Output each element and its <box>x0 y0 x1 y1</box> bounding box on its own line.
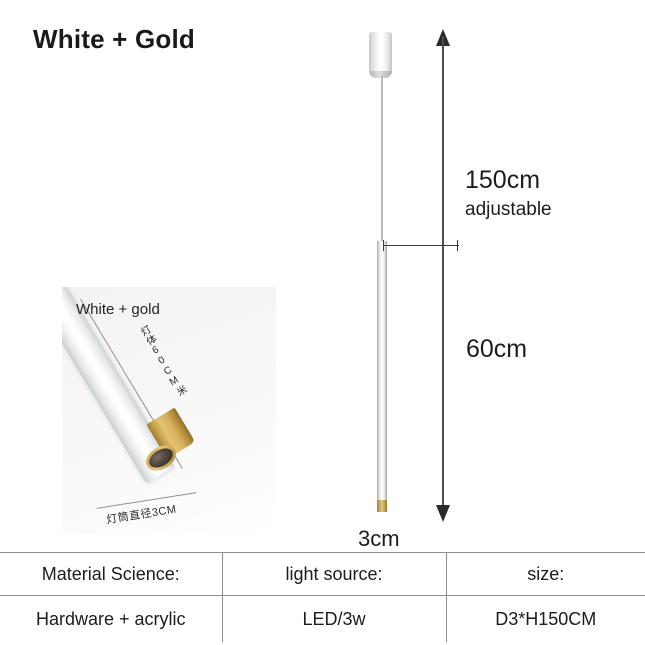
inset-variant-label: White + gold <box>76 301 160 318</box>
page-title: White + Gold <box>33 24 195 55</box>
lamp-rod <box>377 241 387 500</box>
dimension-tick-line <box>383 245 459 246</box>
dimension-tick-cap-left <box>383 240 384 251</box>
table-header-row: Material Science: light source: size: <box>0 553 645 596</box>
arrow-down-icon <box>436 505 450 522</box>
table-cell-material: Hardware + acrylic <box>0 596 222 643</box>
table-cell-size: D3*H150CM <box>446 596 645 643</box>
inset-length-annotation: 灯体60CM米 <box>137 324 188 399</box>
suspension-wire <box>381 76 383 241</box>
dimension-line <box>442 36 444 512</box>
specification-table: Material Science: light source: size: Ha… <box>0 553 645 642</box>
inset-lamp-illustration: 灯体60CM米 灯筒直径3CM <box>62 287 276 534</box>
dimension-tick-cap-right <box>457 240 458 251</box>
table-header-size: size: <box>446 553 645 596</box>
body-length-label: 60cm <box>466 335 527 364</box>
table-cell-light-source: LED/3w <box>222 596 446 643</box>
table-header-material: Material Science: <box>0 553 222 596</box>
total-length-label: 150cm <box>465 166 540 195</box>
table-row: Hardware + acrylic LED/3w D3*H150CM <box>0 596 645 643</box>
gold-lamp-tip-icon <box>377 500 387 512</box>
ceiling-canopy-icon <box>369 32 392 76</box>
table-header-light-source: light source: <box>222 553 446 596</box>
diameter-label: 3cm <box>358 526 400 552</box>
inset-product-photo: White + gold 灯体60CM米 灯筒直径3CM <box>62 287 276 534</box>
total-length-note: adjustable <box>465 199 552 221</box>
product-spec-page: White + Gold White + gold 灯体60CM米 灯筒直径3C… <box>0 0 645 645</box>
